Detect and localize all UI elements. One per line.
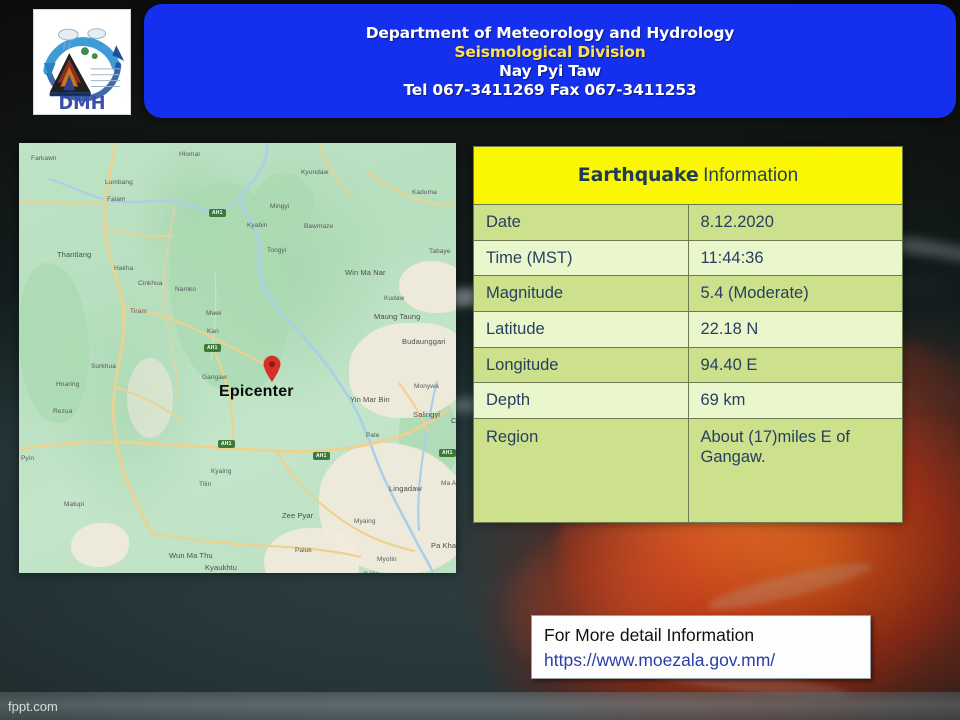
table-row-key: Date <box>474 205 689 241</box>
table-row-value: 22.18 N <box>688 311 903 347</box>
table-row-key: Magnitude <box>474 276 689 312</box>
map-place-label: Lingadaw <box>389 484 422 493</box>
table-row: Longitude94.40 E <box>474 347 903 383</box>
table-body: Date8.12.2020Time (MST)11:44:36Magnitude… <box>474 205 903 523</box>
map-place-label: Tongyi <box>267 247 286 254</box>
map-place-label: Kyabin <box>247 222 267 229</box>
map-place-label: Tilin <box>199 481 211 488</box>
table-row-key: Latitude <box>474 311 689 347</box>
dmh-logo-icon: DMH <box>34 10 130 114</box>
map-place-label: Zee Pyar <box>282 511 313 520</box>
map-place-label: Yin Mar Bin <box>350 395 390 404</box>
fppt-watermark: fppt.com <box>8 699 58 714</box>
highway-shield-icon: AH1 <box>218 440 235 448</box>
table-title: Earthquake Information <box>474 147 903 205</box>
more-info-text: For More detail Information <box>544 623 858 648</box>
map-place-label: Hnaring <box>56 381 79 388</box>
map-place-label: O Yin <box>363 571 379 573</box>
table-row: Date8.12.2020 <box>474 205 903 241</box>
background-bottom-strip <box>0 692 960 720</box>
table-row-key: Longitude <box>474 347 689 383</box>
header-line-2: Seismological Division <box>454 43 645 61</box>
map-place-label: Hlomar <box>179 151 201 158</box>
epicenter-map[interactable]: FarkawnHlomarKyundawLumbangKadumaFalamMi… <box>19 143 456 573</box>
map-place-label: Win Ma Nar <box>345 268 386 277</box>
map-place-label: Pale <box>366 432 379 439</box>
map-place-label: Kyundaw <box>301 169 328 176</box>
map-place-label: Tiram <box>130 308 147 315</box>
map-place-label: Kyaing <box>211 468 231 475</box>
highway-shield-icon: AH1 <box>204 344 221 352</box>
map-place-label: Ma Au <box>441 480 456 487</box>
highway-shield-icon: AH1 <box>313 452 330 460</box>
map-place-label: Wun Ma Thu <box>169 551 213 560</box>
header-line-4: Tel 067-3411269 Fax 067-3411253 <box>403 81 696 99</box>
map-place-label: Matupi <box>64 501 84 508</box>
earthquake-info-table: Earthquake Information Date8.12.2020Time… <box>473 146 903 523</box>
table-row-value: About (17)miles E of Gangaw. <box>688 418 903 522</box>
header-line-3: Nay Pyi Taw <box>499 62 601 80</box>
map-place-label: Surkhua <box>91 363 116 370</box>
map-rivers-and-roads <box>19 143 456 573</box>
table-row-value: 11:44:36 <box>688 240 903 276</box>
map-place-label: Rezua <box>53 408 72 415</box>
map-place-label: Mingyi <box>270 203 289 210</box>
map-place-label: Myaing <box>354 518 376 525</box>
table-row: Depth69 km <box>474 383 903 419</box>
header-line-1: Department of Meteorology and Hydrology <box>366 24 734 42</box>
table-row: Latitude22.18 N <box>474 311 903 347</box>
epicenter-label: Epicenter <box>219 383 294 401</box>
more-info-box[interactable]: For More detail Information https://www.… <box>531 615 871 679</box>
dmh-logo: DMH <box>33 9 131 115</box>
map-place-label: Gangaw <box>202 374 227 381</box>
table-row-key: Depth <box>474 383 689 419</box>
map-place-label: Kudaw <box>384 295 404 302</box>
svg-text:DMH: DMH <box>59 94 106 114</box>
map-place-label: Kyaukhtu <box>205 563 237 572</box>
map-place-label: Pyin <box>21 455 34 462</box>
map-place-label: Mwei <box>206 310 222 317</box>
map-place-label: Hakha <box>114 265 133 272</box>
table-title-strong: Earthquake <box>578 164 699 186</box>
map-place-label: Paluk <box>295 547 312 554</box>
table-title-row: Earthquake Information <box>474 147 903 205</box>
map-place-label: Pa Khan Gyi <box>431 541 456 550</box>
header-banner: Department of Meteorology and Hydrology … <box>144 4 956 118</box>
table-row: RegionAbout (17)miles E of Gangaw. <box>474 418 903 522</box>
table-row-value: 69 km <box>688 383 903 419</box>
map-place-label: Bawmaze <box>304 223 333 230</box>
map-place-label: Myotin <box>377 556 397 563</box>
table-row-key: Region <box>474 418 689 522</box>
map-place-label: Namko <box>175 286 196 293</box>
map-place-label: Falam <box>107 196 126 203</box>
highway-shield-icon: AH1 <box>209 209 226 217</box>
map-place-label: Cinkhua <box>138 280 163 287</box>
map-place-label: Chaung-U <box>451 416 456 425</box>
table-row-value: 5.4 (Moderate) <box>688 276 903 312</box>
more-info-link[interactable]: https://www.moezala.gov.mm/ <box>544 648 858 673</box>
map-place-label: Maung Taung <box>374 312 420 321</box>
table-title-light: Information <box>703 165 798 186</box>
table-row-key: Time (MST) <box>474 240 689 276</box>
epicenter-marker-icon[interactable] <box>262 355 282 383</box>
table-row-value: 94.40 E <box>688 347 903 383</box>
map-place-label: Kaduma <box>412 189 437 196</box>
map-place-label: Lumbang <box>105 179 133 186</box>
table-row-value: 8.12.2020 <box>688 205 903 241</box>
map-place-label: Salingyi <box>413 410 440 419</box>
table-row: Time (MST)11:44:36 <box>474 240 903 276</box>
map-place-label: Kan <box>207 328 219 335</box>
map-place-label: Thantlang <box>57 250 91 259</box>
map-place-label: Monywa <box>414 383 439 390</box>
highway-shield-icon: AH1 <box>439 449 456 457</box>
map-place-label: Farkawn <box>31 155 57 162</box>
map-place-label: Budaunggari <box>402 337 446 346</box>
table-row: Magnitude5.4 (Moderate) <box>474 276 903 312</box>
slide-canvas: DMH Department of Meteorology and Hydrol… <box>0 0 960 720</box>
map-place-label: Tabaye <box>429 248 451 255</box>
